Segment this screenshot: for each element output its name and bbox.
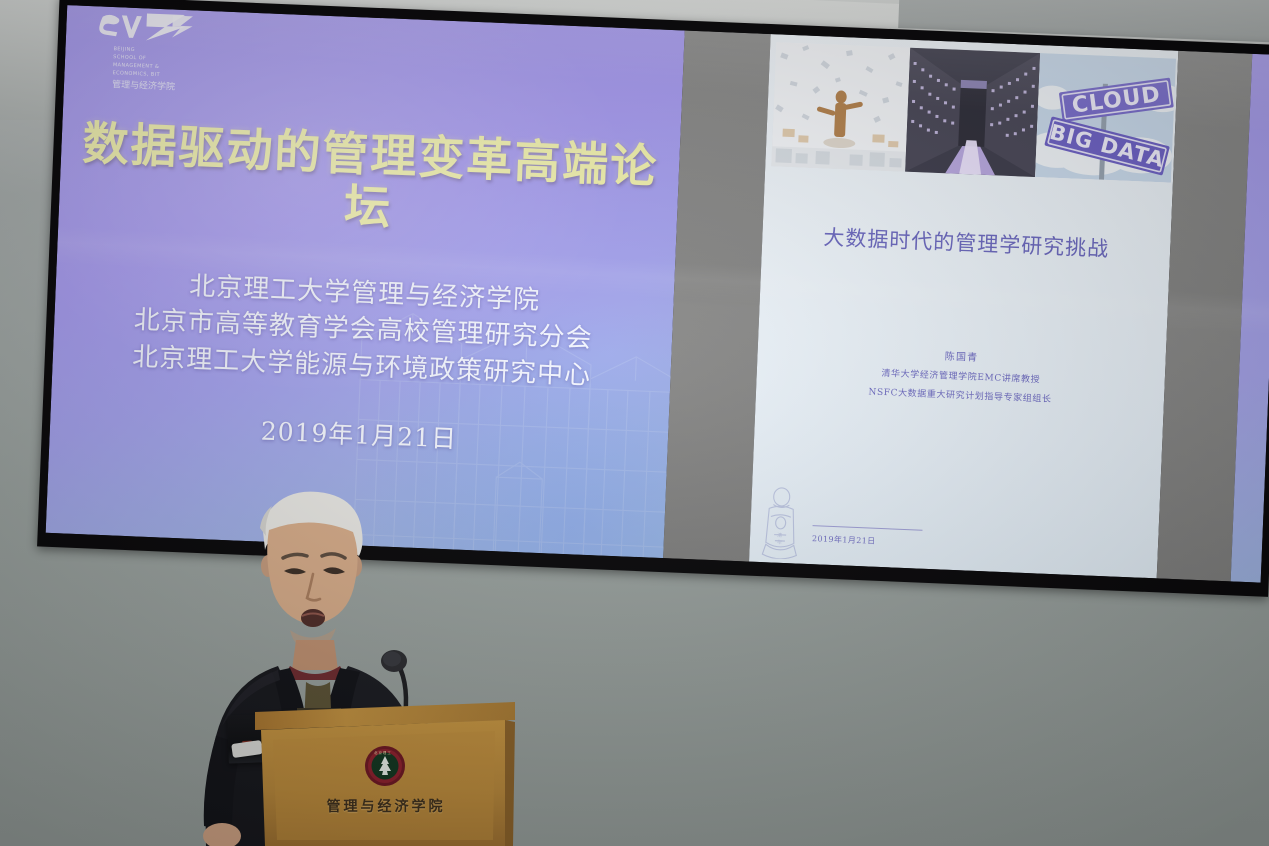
slide-image-strip: CLOUD BIG DATA (771, 42, 1176, 182)
sme-school-logo: BEIJING SCHOOL OF MANAGEMENT & ECONOMICS… (86, 10, 199, 100)
svg-text:BEIJING: BEIJING (113, 46, 135, 53)
right-slide-title: 大数据时代的管理学研究挑战 (762, 219, 1171, 266)
cloud-big-data-street-signs-image: CLOUD BIG DATA (1035, 53, 1176, 182)
podium-label: 管理与经济学院 (296, 796, 476, 816)
footer-rule (813, 525, 923, 531)
right-projection-slide: CLOUD BIG DATA 大数据时代的管理学研究挑战 陈国青 (749, 34, 1178, 578)
svg-text:管理与经济学院: 管理与经济学院 (112, 78, 175, 93)
right-slide-speaker-block: 陈国青 清华大学经济管理学院EMC讲席教授 NSFC大数据重大研究计划指导专家组… (756, 339, 1166, 414)
data-center-corridor-image (905, 48, 1040, 177)
svg-text:清: 清 (777, 532, 782, 539)
svg-text:MANAGEMENT &: MANAGEMENT & (113, 62, 160, 70)
conference-photo-scene: BEIJING SCHOOL OF MANAGEMENT & ECONOMICS… (0, 0, 1269, 846)
person-in-data-storm-image (771, 42, 910, 171)
svg-text:华: 华 (777, 539, 782, 546)
right-slide-footer-date: 2019年1月21日 (812, 533, 876, 547)
svg-text:北 京 理 工: 北 京 理 工 (374, 750, 391, 755)
left-slide-title: 数据驱动的管理变革高端论坛 (58, 117, 680, 245)
svg-text:SCHOOL OF: SCHOOL OF (113, 54, 146, 61)
svg-text:ECONOMICS, BIT: ECONOMICS, BIT (112, 70, 160, 78)
lectern-podium: 北 京 理 工 (255, 700, 515, 846)
university-emblem-watermark: 清 华 (757, 486, 804, 560)
